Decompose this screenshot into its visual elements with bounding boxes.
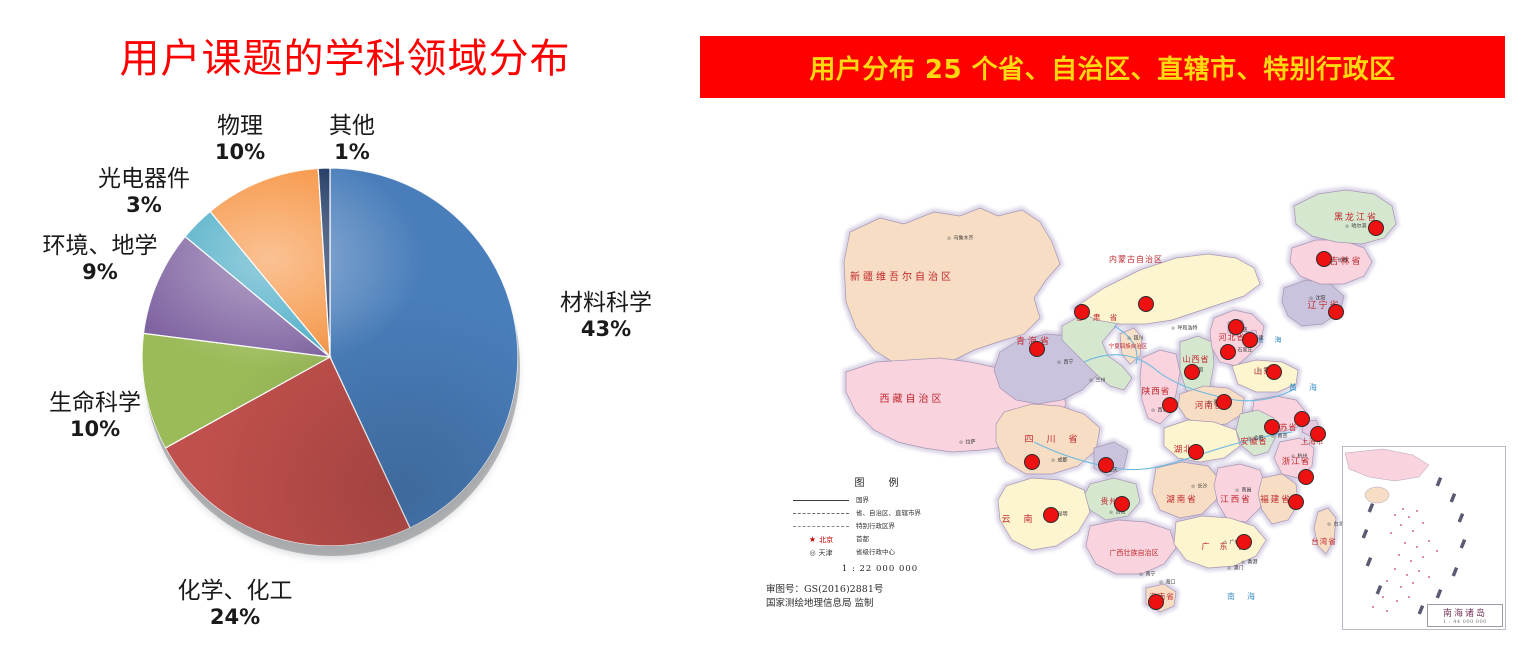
- user-location-dot: [1265, 420, 1280, 435]
- inset-boundary-dash: [1368, 503, 1375, 513]
- pie-chart: [142, 168, 522, 568]
- inset-boundary-dash: [1376, 585, 1383, 595]
- city-dot-icon: ◎: [1241, 560, 1245, 565]
- province-label: 宁夏回族自治区: [1109, 342, 1148, 350]
- inset-island: [1400, 586, 1402, 588]
- legend-row-provincial-capital: ◎ 天津 省级行政中心: [790, 546, 970, 559]
- user-location-dot: [1189, 445, 1204, 460]
- inset-island: [1436, 550, 1438, 552]
- city-dot-icon: ◎: [1127, 336, 1131, 341]
- inset-island: [1412, 582, 1414, 584]
- inset-scale: 1 : 44 000 000: [1428, 619, 1502, 625]
- user-location-dot: [1139, 297, 1154, 312]
- city-label: 长春: [1338, 257, 1348, 264]
- pie-label-cailiao-kexue: 材料科学 43%: [540, 290, 672, 342]
- user-location-dot: [1217, 395, 1232, 410]
- city-dot-icon: ◎: [1227, 566, 1231, 571]
- inset-boundary-dash: [1362, 529, 1369, 539]
- legend-row-sar-border: 特别行政区界: [790, 520, 970, 533]
- province-label: 湖南省: [1166, 494, 1198, 505]
- city-label: 南昌: [1242, 487, 1252, 494]
- legend-caption-tianjin: 天津: [819, 548, 833, 558]
- inset-mainland: [1345, 449, 1429, 481]
- city-marker: ◎澳门: [1227, 565, 1243, 572]
- city-label: 成都: [1058, 457, 1068, 464]
- map-publisher: 国家测绘地理信息局 监制: [766, 597, 883, 611]
- inset-boundary-dash: [1436, 477, 1443, 487]
- city-label: 拉萨: [966, 439, 976, 446]
- city-label: 长沙: [1198, 483, 1208, 490]
- city-label: 银川: [1134, 335, 1144, 342]
- inset-boundary-dash: [1418, 605, 1425, 615]
- user-location-dot: [1185, 365, 1200, 380]
- city-marker: ◎南宁: [1139, 571, 1155, 578]
- city-dot-icon: ◎: [959, 440, 963, 445]
- city-marker: ◎成都: [1051, 457, 1067, 464]
- legend-caption-beijing: 北京: [819, 535, 833, 545]
- user-location-dot: [1243, 333, 1258, 348]
- user-location-dot: [1317, 252, 1332, 267]
- user-location-dot: [1267, 365, 1282, 380]
- inset-island: [1394, 514, 1396, 516]
- user-location-dot: [1329, 305, 1344, 320]
- city-dot-icon: ◎: [1247, 436, 1251, 441]
- city-dot-icon: ◎: [1139, 572, 1143, 577]
- city-marker: ◎海口: [1159, 579, 1175, 586]
- city-label: 南宁: [1146, 571, 1156, 578]
- inset-hainan: [1365, 487, 1389, 503]
- inset-island: [1400, 524, 1402, 526]
- city-marker: ◎西宁: [1057, 359, 1073, 366]
- city-label: 香港: [1248, 559, 1258, 566]
- province-label: 西藏自治区: [880, 392, 945, 405]
- user-location-dot: [1311, 427, 1326, 442]
- legend-row-province-border: 省、自治区、直辖市界: [790, 507, 970, 520]
- map-approval-number: 审图号：GS(2016)2881号: [766, 583, 883, 597]
- city-label: 乌鲁木齐: [954, 235, 974, 242]
- inset-island: [1396, 600, 1398, 602]
- inset-island: [1386, 580, 1388, 582]
- city-marker: ◎香港: [1241, 559, 1257, 566]
- city-label: 沈阳: [1316, 295, 1326, 302]
- inset-label: 南海诸岛 1 : 44 000 000: [1427, 604, 1503, 627]
- china-map: 渤 海黄 海东 海南 海 新疆维吾尔自治区西藏自治区青海省甘 肃 省内蒙古自治区…: [704, 112, 1504, 647]
- inset-island: [1422, 556, 1424, 558]
- city-dot-icon: ◎: [1309, 296, 1313, 301]
- pie-svg: [142, 168, 518, 546]
- user-location-dot: [1163, 398, 1178, 413]
- city-marker: ◎长春: [1331, 257, 1347, 264]
- inset-boundary-dash: [1460, 539, 1467, 549]
- inset-island: [1412, 530, 1414, 532]
- user-location-dot: [1289, 495, 1304, 510]
- map-panel: 用户分布 25 个省、自治区、直辖市、特别行政区 渤 海黄 海东 海南 海 新疆…: [690, 0, 1516, 661]
- sar-border-key: [790, 521, 852, 533]
- user-location-dot: [1369, 221, 1384, 236]
- province-label: 台湾省: [1311, 536, 1337, 546]
- legend-desc-0: 国界: [852, 497, 869, 504]
- city-marker: ◎拉萨: [959, 439, 975, 446]
- city-marker: ◎银川: [1127, 335, 1143, 342]
- province-border-key: [790, 508, 852, 520]
- city-dot-icon: ◎: [1159, 580, 1163, 585]
- province-label: 新疆维吾尔自治区: [850, 270, 954, 283]
- city-dot-icon: ◎: [1051, 458, 1055, 463]
- province-label: 陕西省: [1142, 386, 1171, 397]
- sea-label: 南 海: [1227, 591, 1257, 601]
- city-dot-icon: ◎: [1257, 368, 1261, 373]
- pie-label-qita: 其他 1%: [308, 113, 396, 165]
- map-banner: 用户分布 25 个省、自治区、直辖市、特别行政区: [700, 36, 1505, 98]
- inset-boundary-dash: [1450, 493, 1457, 503]
- inset-island: [1404, 542, 1406, 544]
- city-label: 兰州: [1096, 377, 1106, 384]
- pie-label-wuli: 物理 10%: [196, 113, 284, 165]
- inset-island: [1418, 570, 1420, 572]
- province-label: 黑龙江省: [1334, 211, 1378, 223]
- pie-label-huaxue-huagong: 化学、化工 24%: [164, 578, 306, 630]
- pie-chart-panel: 用户课题的学科领域分布 物理 10% 其他 1% 光电器件 3% 环境、地学 9…: [0, 0, 690, 661]
- province-label: 内蒙古自治区: [1109, 254, 1163, 264]
- city-dot-icon: ◎: [1109, 510, 1113, 515]
- page-title: 用户课题的学科领域分布: [0, 26, 690, 84]
- sea-label: 黄 海: [1289, 382, 1319, 392]
- city-dot-icon: ◎: [1089, 378, 1093, 383]
- user-location-dot: [1025, 455, 1040, 470]
- inset-island: [1410, 560, 1412, 562]
- user-location-dot: [1075, 305, 1090, 320]
- inset-island: [1416, 510, 1418, 512]
- inset-island: [1398, 554, 1400, 556]
- city-label: 合肥: [1254, 435, 1264, 442]
- inset-island: [1422, 522, 1424, 524]
- provincial-capital-circle-icon: ◎ 天津: [790, 547, 852, 559]
- inset-boundary-dash: [1458, 513, 1465, 523]
- province-label: 江西省: [1220, 494, 1252, 505]
- city-dot-icon: ◎: [1057, 360, 1061, 365]
- city-label: 呼和浩特: [1178, 325, 1198, 332]
- inset-svg: [1343, 447, 1503, 627]
- province-label: 山西省: [1183, 354, 1210, 364]
- pie-label-shengming-kexue: 生命科学 10%: [34, 390, 156, 442]
- province-label: 广西壮族自治区: [1110, 548, 1159, 557]
- city-dot-icon: ◎: [1291, 454, 1295, 459]
- city-dot-icon: ◎: [1171, 326, 1175, 331]
- legend-desc-3: 首都: [852, 536, 869, 543]
- city-marker: ◎南昌: [1235, 487, 1251, 494]
- legend-desc-1: 省、自治区、直辖市界: [852, 510, 921, 517]
- pie-disc: [142, 168, 518, 546]
- city-label: 杭州: [1298, 453, 1308, 460]
- inset-island: [1386, 610, 1388, 612]
- legend-row-national-border: 国界: [790, 494, 970, 507]
- city-marker: ◎长沙: [1191, 483, 1207, 490]
- inset-island: [1428, 540, 1430, 542]
- city-label: 西宁: [1064, 359, 1074, 366]
- pie-label-huanjing-dixue: 环境、地学 9%: [30, 233, 170, 285]
- inset-island: [1408, 596, 1410, 598]
- city-label: 昆明: [1058, 512, 1068, 518]
- map-scale: 1 : 22 000 000: [790, 564, 970, 574]
- user-location-dot: [1295, 412, 1310, 427]
- city-dot-icon: ◎: [1235, 488, 1239, 493]
- inset-island: [1394, 568, 1396, 570]
- inset-island: [1372, 606, 1374, 608]
- city-marker: ◎杭州: [1291, 453, 1307, 460]
- city-label: 海口: [1166, 579, 1176, 586]
- map-banner-text: 用户分布 25 个省、自治区、直辖市、特别行政区: [809, 49, 1395, 86]
- national-border-key: [790, 495, 852, 507]
- legend-desc-2: 特别行政区界: [852, 523, 895, 530]
- city-dot-icon: ◎: [1191, 484, 1195, 489]
- legend-row-capital: ★ 北京 首都: [790, 533, 970, 546]
- inset-boundary-dash: [1366, 557, 1373, 567]
- inset-name: 南海诸岛: [1428, 606, 1502, 619]
- city-label: 哈尔滨: [1352, 223, 1367, 230]
- user-location-dot: [1044, 508, 1059, 523]
- pie-label-guangdianqijian: 光电器件 3%: [84, 166, 204, 218]
- capital-star-icon: ★ 北京: [790, 534, 852, 546]
- inset-island: [1390, 532, 1392, 534]
- city-dot-icon: ◎: [947, 236, 951, 241]
- city-marker: ◎呼和浩特: [1171, 325, 1197, 332]
- user-location-dot: [1149, 595, 1164, 610]
- inset-island: [1416, 546, 1418, 548]
- south-china-sea-inset: 南海诸岛 1 : 44 000 000: [1342, 446, 1506, 630]
- city-marker: ◎沈阳: [1309, 295, 1325, 302]
- city-dot-icon: ◎: [1223, 540, 1227, 545]
- inset-boundary-dash: [1452, 567, 1459, 577]
- user-location-dot: [1099, 458, 1114, 473]
- city-label: 南京: [1278, 433, 1288, 440]
- city-marker: ◎兰州: [1089, 377, 1105, 384]
- province-label: 福建省: [1260, 494, 1292, 505]
- city-dot-icon: ◎: [1151, 408, 1155, 413]
- inset-boundary-dash: [1436, 589, 1443, 599]
- city-label: 澳门: [1234, 565, 1244, 572]
- city-marker: ◎合肥: [1247, 435, 1263, 442]
- user-location-dot: [1030, 342, 1045, 357]
- province-label: 四 川 省: [1024, 433, 1079, 445]
- map-legend: 图 例 国界 省、自治区、直辖市界 特别行政区界 ★ 北京 首都: [790, 474, 970, 574]
- user-location-dot: [1299, 470, 1314, 485]
- user-location-dot: [1221, 345, 1236, 360]
- user-location-dot: [1237, 535, 1252, 550]
- inset-island: [1402, 508, 1404, 510]
- inset-island: [1408, 516, 1410, 518]
- inset-island: [1428, 576, 1430, 578]
- map-credit: 审图号：GS(2016)2881号 国家测绘地理信息局 监制: [766, 583, 883, 612]
- city-dot-icon: ◎: [1207, 400, 1211, 405]
- legend-desc-4: 省级行政中心: [852, 549, 895, 556]
- user-location-dot: [1229, 320, 1244, 335]
- user-location-dot: [1115, 497, 1130, 512]
- inset-island: [1406, 574, 1408, 576]
- city-dot-icon: ◎: [1327, 522, 1331, 527]
- inset-island: [1382, 596, 1384, 598]
- city-marker: ◎哈尔滨: [1345, 223, 1366, 230]
- city-dot-icon: ◎: [1345, 224, 1349, 229]
- legend-title: 图 例: [790, 474, 970, 489]
